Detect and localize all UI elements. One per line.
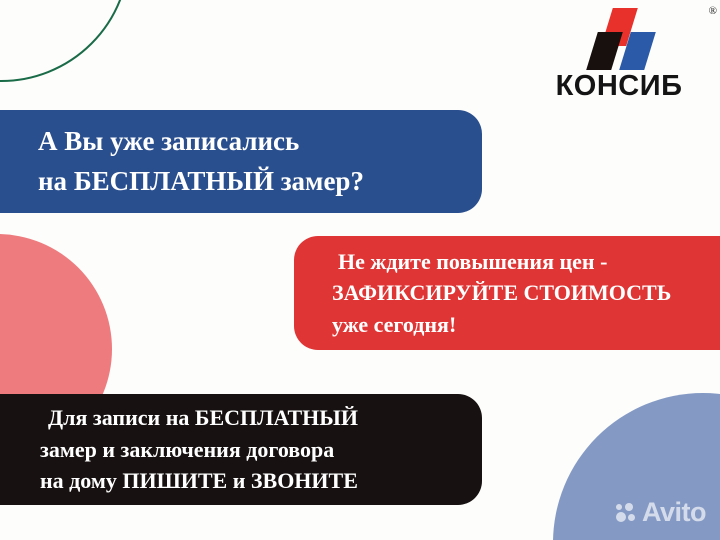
banner-black-line-3-write: ПИШИТЕ bbox=[122, 468, 227, 493]
banner-red-line-1: Не ждите повышения цен - bbox=[332, 246, 720, 277]
avito-dots-icon bbox=[616, 503, 637, 522]
avito-wordmark: Avito bbox=[642, 499, 706, 526]
konsib-logo: КОНСИБ® bbox=[534, 8, 704, 104]
logo-mark-icon bbox=[580, 8, 658, 70]
logo-wordmark: КОНСИБ bbox=[556, 72, 683, 101]
banner-red-line-2: ЗАФИКСИРУЙТЕ СТОИМОСТЬ bbox=[332, 277, 720, 308]
banner-black-line-3-prefix: на дому bbox=[40, 468, 122, 493]
banner-black-line-1-emphasis: БЕСПЛАТНЫЙ bbox=[195, 405, 358, 430]
banner-black-line-1-prefix: Для записи на bbox=[48, 405, 195, 430]
promo-poster: КОНСИБ® А Вы уже записались на БЕСПЛАТНЫ… bbox=[0, 0, 720, 540]
banner-black-line-3-conjunction: и bbox=[227, 468, 251, 493]
avito-watermark: Avito bbox=[616, 499, 706, 526]
logo-parallelogram-black-icon bbox=[586, 32, 623, 70]
banner-call-to-action: Для записи на БЕСПЛАТНЫЙ замер и заключе… bbox=[0, 394, 482, 505]
banner-black-line-1: Для записи на БЕСПЛАТНЫЙ bbox=[40, 402, 482, 434]
banner-red-line-3: уже сегодня! bbox=[332, 309, 720, 340]
banner-free-measurement-question: А Вы уже записались на БЕСПЛАТНЫЙ замер? bbox=[0, 110, 482, 213]
banner-blue-line-1: А Вы уже записались bbox=[38, 122, 482, 162]
banner-blue-line-2-suffix: замер? bbox=[274, 166, 364, 196]
banner-blue-line-2-emphasis: БЕСПЛАТНЫЙ bbox=[74, 166, 274, 196]
banner-black-line-3: на дому ПИШИТЕ и ЗВОНИТЕ bbox=[40, 465, 482, 497]
banner-blue-line-2: на БЕСПЛАТНЫЙ замер? bbox=[38, 162, 482, 202]
banner-blue-line-2-prefix: на bbox=[38, 166, 74, 196]
banner-black-line-2: замер и заключения договора bbox=[40, 434, 482, 466]
banner-black-line-3-call: ЗВОНИТЕ bbox=[251, 468, 358, 493]
banner-price-lock-offer: Не ждите повышения цен - ЗАФИКСИРУЙТЕ СТ… bbox=[294, 236, 720, 350]
green-ring-icon bbox=[0, 0, 130, 82]
registered-trademark-icon: ® bbox=[709, 5, 717, 17]
